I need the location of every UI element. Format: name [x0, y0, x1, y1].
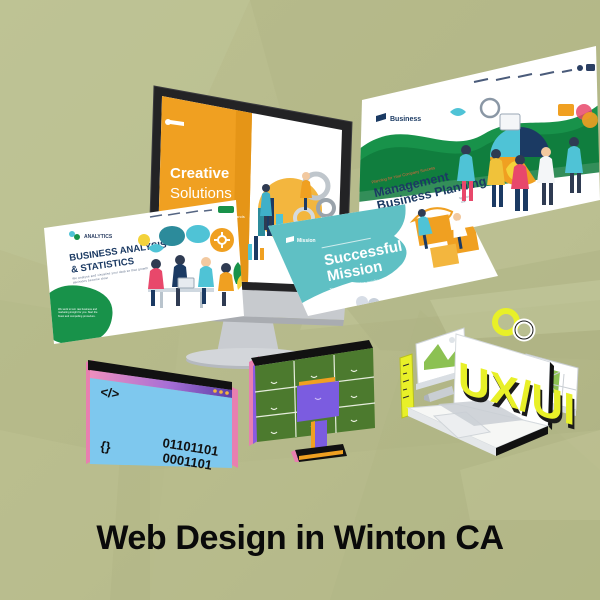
business-logo-label: Business [390, 116, 421, 123]
code-browser-window[interactable]: </> {} 01101101 0001101 [82, 352, 247, 477]
page-title: Web Design in Winton CA [0, 518, 600, 558]
code-tag-glyph: </> [100, 384, 121, 402]
svg-text:ANALYTICS: ANALYTICS [84, 234, 113, 240]
analysis-card: ANALYTICS BUSINESS ANALYSIS & STATISTICS… [40, 192, 250, 352]
gear-icon [495, 311, 533, 339]
green-grid-monitor[interactable] [243, 336, 393, 476]
pen-icon [424, 386, 454, 402]
analysis-blob-text: We work to turn raw business and marketi… [58, 308, 104, 318]
svg-text:Mission: Mission [297, 238, 316, 244]
creative-heading-line1: Creative [170, 165, 229, 182]
uxui-laptop[interactable]: UX/UI UX/UI [398, 300, 600, 485]
brace-glyph: {} [100, 438, 112, 454]
poster-canvas: Creative Solutions Digital design soluti… [0, 0, 600, 600]
